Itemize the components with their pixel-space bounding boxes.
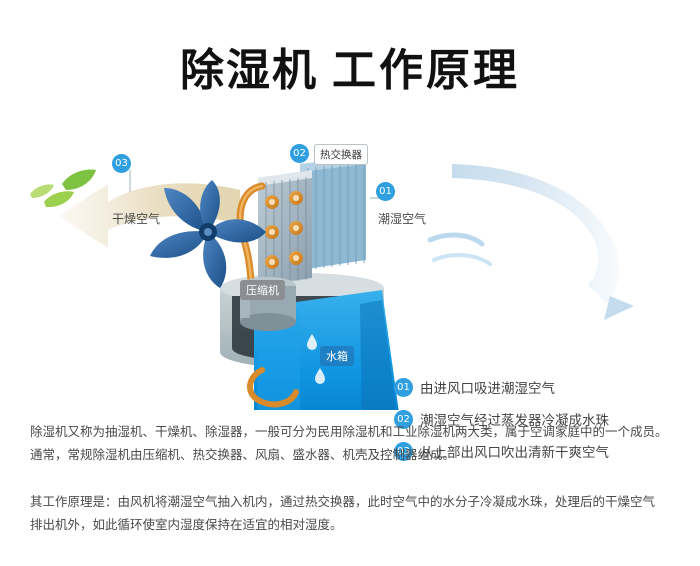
paragraph-2-line-2: 排出机外，如此循环使室内湿度保持在适宜的相对湿度。	[30, 513, 670, 536]
description-paragraph-2: 其工作原理是：由风机将潮湿空气抽入机内，通过热交换器，此时空气中的水分子冷凝成水…	[30, 490, 670, 536]
page-title-part1: 除湿机	[180, 45, 318, 96]
page-title: 除湿机工作原理	[0, 34, 700, 98]
list-item: 01 由进风口吸进潮湿空气	[394, 376, 694, 408]
badge-02: 02	[290, 144, 309, 163]
badge-03: 03	[112, 154, 131, 173]
label-compressor: 压缩机	[240, 280, 285, 300]
label-dry-air: 干燥空气	[112, 210, 160, 227]
badge-01: 01	[376, 182, 395, 201]
paragraph-2-line-1: 其工作原理是：由风机将潮湿空气抽入机内，通过热交换器，此时空气中的水分子冷凝成水…	[30, 490, 670, 513]
step-badge: 01	[394, 378, 413, 397]
dehumidifier-diagram: 03 干燥空气 02 热交换器 01 潮湿空气 压缩机 水箱 01 由进风口吸进…	[0, 120, 700, 410]
paragraph-1-line-1: 除湿机又称为抽湿机、干燥机、除湿器，一般可分为民用除湿机和工业除湿机两大类，属于…	[30, 420, 670, 443]
label-humid-air: 潮湿空气	[378, 210, 426, 227]
poster-root: 除湿机工作原理	[0, 0, 700, 566]
label-water-tank: 水箱	[320, 346, 354, 366]
label-heat-exchanger: 热交换器	[314, 144, 368, 165]
paragraph-1-line-2: 通常，常规除湿机由压缩机、热交换器、风扇、盛水器、机壳及控制器组成。	[30, 443, 670, 466]
page-title-part2: 工作原理	[332, 45, 520, 96]
description-paragraph-1: 除湿机又称为抽湿机、干燥机、除湿器，一般可分为民用除湿机和工业除湿机两大类，属于…	[30, 420, 670, 466]
step-text: 由进风口吸进潮湿空气	[420, 377, 555, 397]
